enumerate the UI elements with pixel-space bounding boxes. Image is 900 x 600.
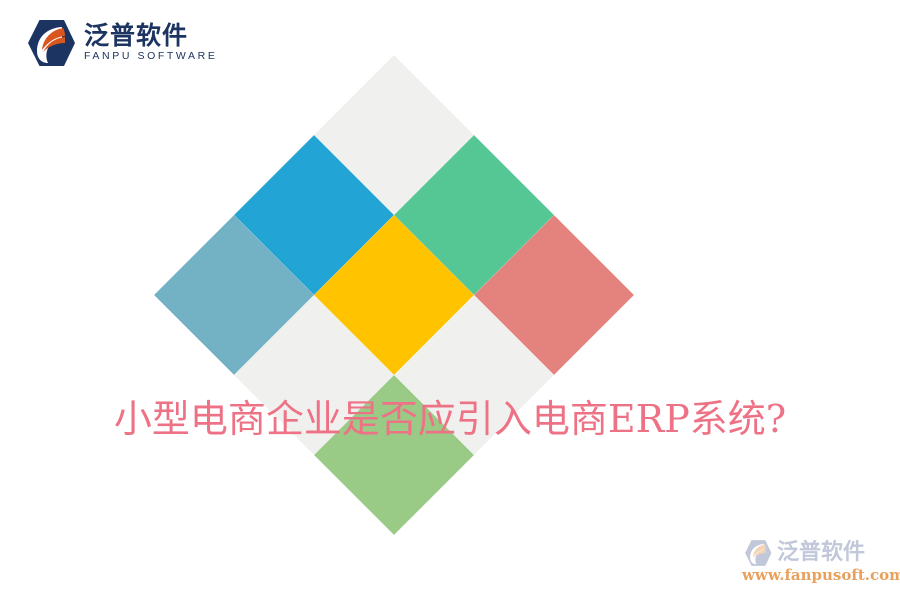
fanpu-hexagon-swoosh-icon (742, 539, 774, 567)
tile-blue (234, 135, 394, 295)
tile-top-gray (314, 55, 474, 215)
banner-canvas: 泛普软件 FANPU SOFTWARE 小型电商企业是否应引入电商ERP系统? … (0, 0, 900, 600)
page-title: 小型电商企业是否应引入电商ERP系统? (0, 398, 900, 442)
tile-yellow-center (314, 215, 474, 375)
site-watermark: 泛普软件 www.fanpusoft.com (742, 536, 892, 592)
fanpu-hexagon-swoosh-icon (24, 18, 78, 68)
brand-name-en: FANPU SOFTWARE (84, 50, 217, 63)
brand-name-cn: 泛普软件 (84, 23, 217, 49)
brand-logo: 泛普软件 FANPU SOFTWARE (24, 12, 224, 74)
watermark-url: www.fanpusoft.com (742, 568, 892, 583)
tile-teal-green (394, 135, 554, 295)
tile-steel-blue (154, 215, 314, 375)
watermark-logo: 泛普软件 (742, 536, 892, 570)
watermark-brand-name: 泛普软件 (777, 542, 865, 564)
tile-salmon (474, 215, 634, 375)
brand-wordmark: 泛普软件 FANPU SOFTWARE (84, 23, 217, 63)
